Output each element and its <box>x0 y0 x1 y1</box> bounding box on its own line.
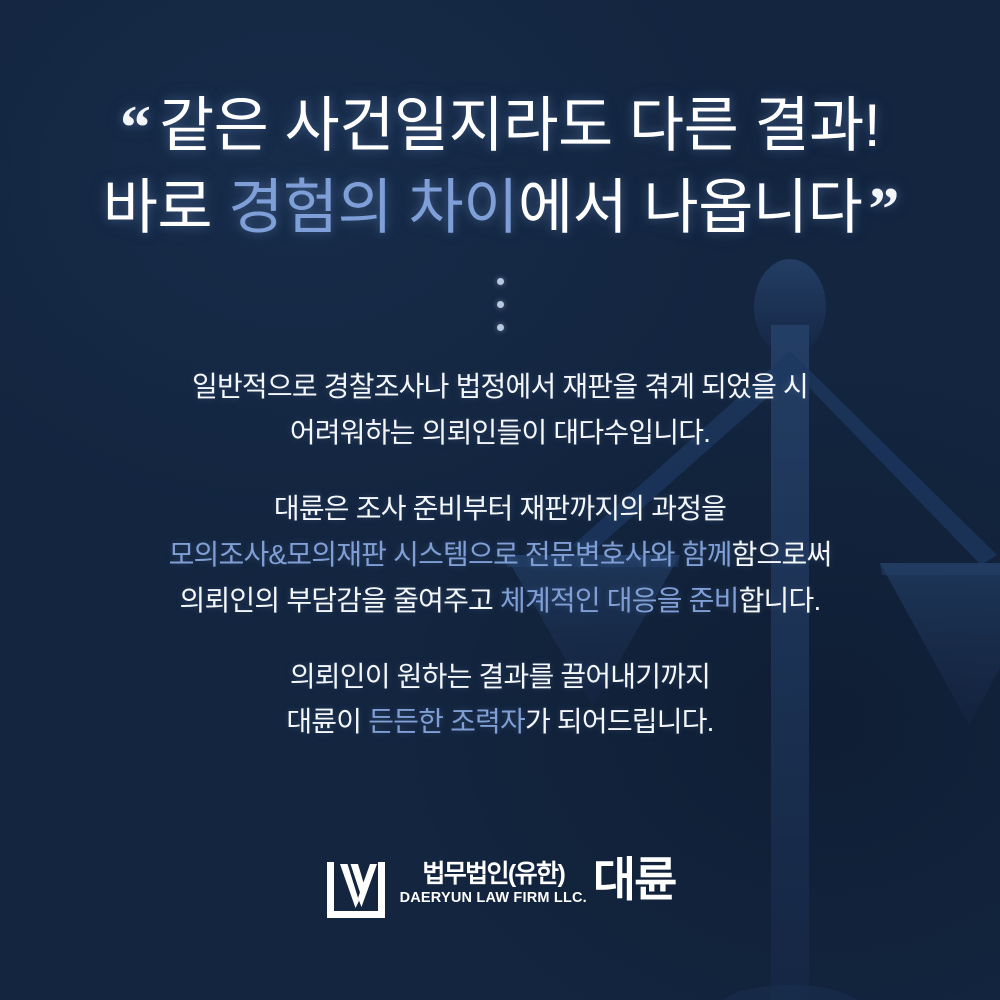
logo-entity-name: 법무법인(유한) <box>422 861 564 887</box>
close-quote-icon: ” <box>868 176 897 244</box>
body-accent-text: 체계적인 대응을 준비 <box>500 585 739 616</box>
three-dot-divider <box>0 278 1000 331</box>
logo-roman-name: DAERYUN LAW FIRM LLC. <box>400 891 587 907</box>
headline-line-2-prefix: 바로 <box>103 174 229 241</box>
body-text: 함으로써 <box>732 539 832 570</box>
headline-line-2-suffix: 에서 나옵니다 <box>518 174 862 241</box>
daeryun-v-monogram-icon <box>325 860 387 920</box>
body-copy: 일반적으로 경찰조사나 법정에서 재판을 겪게 되었을 시어려워하는 의뢰인들이… <box>0 364 1000 745</box>
body-line: 모의조사&모의재판 시스템으로 전문변호사와 함께함으로써 <box>0 532 1000 578</box>
body-paragraph: 의뢰인이 원하는 결과를 끌어내기까지대륜이 든든한 조력자가 되어드립니다. <box>0 654 1000 746</box>
body-line: 어려워하는 의뢰인들이 대다수입니다. <box>0 410 1000 456</box>
logo-brand-name: 대륜 <box>593 858 675 903</box>
promotional-card: “같은 사건일지라도 다른 결과! 바로 경험의 차이에서 나옵니다” 일반적으… <box>0 0 1000 1000</box>
divider-dot <box>497 301 504 308</box>
body-paragraph: 대륜은 조사 준비부터 재판까지의 과정을모의조사&모의재판 시스템으로 전문변… <box>0 486 1000 624</box>
headline-accent-phrase: 경험의 차이 <box>228 174 518 241</box>
logo-entity-block: 법무법인(유한) DAERYUN LAW FIRM LLC. <box>400 861 587 907</box>
body-text: 합니다. <box>739 585 821 616</box>
headline-line-1-text: 같은 사건일지라도 다른 결과! <box>159 92 880 159</box>
body-paragraph: 일반적으로 경찰조사나 법정에서 재판을 겪게 되었을 시어려워하는 의뢰인들이… <box>0 364 1000 456</box>
logo-lockup: 법무법인(유한) DAERYUN LAW FIRM LLC. 대륜 <box>0 860 1000 920</box>
body-line: 일반적으로 경찰조사나 법정에서 재판을 겪게 되었을 시 <box>0 364 1000 410</box>
body-text: 일반적으로 경찰조사나 법정에서 재판을 겪게 되었을 시 <box>192 371 808 402</box>
body-text: 의뢰인의 부담감을 줄여주고 <box>180 585 500 616</box>
headline-line-1: “같은 사건일지라도 다른 결과! <box>0 96 1000 159</box>
divider-dot <box>497 278 504 285</box>
body-text: 어려워하는 의뢰인들이 대다수입니다. <box>290 417 710 448</box>
open-quote-icon: “ <box>120 94 149 162</box>
body-text: 대륜은 조사 준비부터 재판까지의 과정을 <box>274 493 726 524</box>
body-accent-text: 든든한 조력자 <box>368 706 525 737</box>
body-line: 대륜이 든든한 조력자가 되어드립니다. <box>0 699 1000 745</box>
body-text: 의뢰인이 원하는 결과를 끌어내기까지 <box>290 661 710 692</box>
body-line: 의뢰인의 부담감을 줄여주고 체계적인 대응을 준비합니다. <box>0 578 1000 624</box>
headline-line-2: 바로 경험의 차이에서 나옵니다” <box>0 178 1000 241</box>
body-text: 대륜이 <box>286 706 368 737</box>
body-text: 가 되어드립니다. <box>525 706 714 737</box>
body-line: 대륜은 조사 준비부터 재판까지의 과정을 <box>0 486 1000 532</box>
body-line: 의뢰인이 원하는 결과를 끌어내기까지 <box>0 654 1000 700</box>
logo-wordmark: 법무법인(유한) DAERYUN LAW FIRM LLC. 대륜 <box>400 860 676 907</box>
body-accent-text: 모의조사&모의재판 시스템으로 전문변호사와 함께 <box>169 539 732 570</box>
divider-dot <box>497 324 504 331</box>
